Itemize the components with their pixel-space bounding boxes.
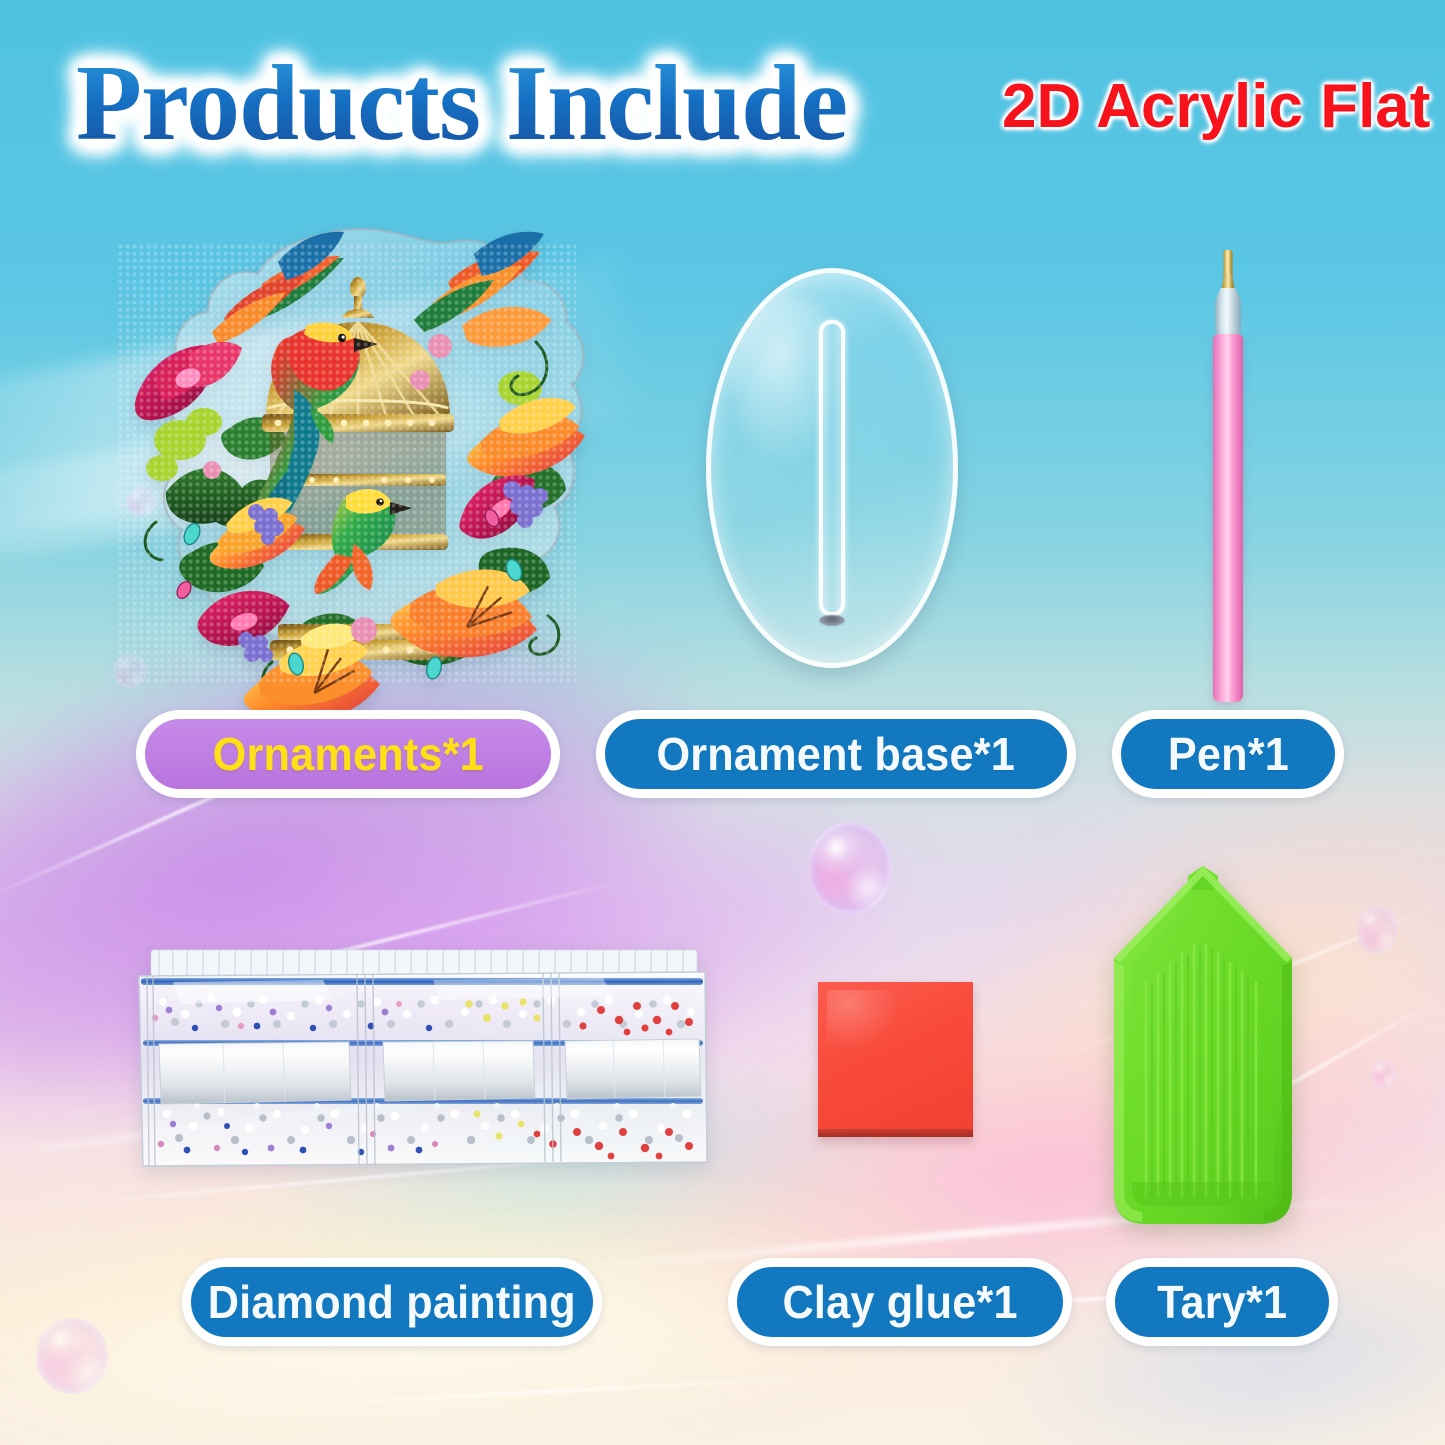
bubble-1: [808, 822, 892, 914]
label-diamond-painting[interactable]: Diamond painting: [182, 1258, 602, 1346]
label-pen[interactable]: Pen*1: [1112, 710, 1344, 798]
clay-glue-image: [818, 982, 973, 1137]
label-ornaments-text: Ornaments*1: [212, 727, 483, 781]
page-subtitle: 2D Acrylic Flat: [1002, 72, 1430, 142]
pen-image: [1207, 250, 1249, 705]
diamond-bags-image: [133, 948, 711, 1188]
pen-tip-cone: [1222, 274, 1235, 290]
label-ornament-base-text: Ornament base*1: [657, 727, 1016, 781]
glue-sheen: [827, 990, 898, 1049]
label-tary-text: Tary*1: [1157, 1275, 1287, 1329]
label-tary[interactable]: Tary*1: [1106, 1258, 1338, 1346]
base-slot: [819, 320, 845, 616]
acrylic-oval: [706, 268, 958, 668]
label-ornament-base[interactable]: Ornament base*1: [596, 710, 1076, 798]
ornament-image: [96, 222, 596, 712]
pen-body: [1213, 334, 1243, 702]
pen-metal-tip: [1224, 250, 1233, 276]
bubble-3: [1370, 1060, 1396, 1088]
title-row: Products Include 2D Acrylic Flat: [0, 48, 1445, 168]
bubble-4: [36, 1318, 108, 1394]
glue-bottom-edge: [818, 1129, 973, 1137]
label-pen-text: Pen*1: [1167, 727, 1288, 781]
page-title: Products Include: [76, 48, 847, 160]
label-diamond-painting-text: Diamond painting: [208, 1275, 576, 1329]
tray-image: [1108, 862, 1298, 1230]
label-ornaments[interactable]: Ornaments*1: [136, 710, 560, 798]
label-clay-glue-text: Clay glue*1: [782, 1275, 1017, 1329]
bubble-2: [1356, 906, 1398, 954]
pen-collar: [1215, 288, 1241, 336]
label-clay-glue[interactable]: Clay glue*1: [728, 1258, 1072, 1346]
base-slot-dot: [819, 615, 845, 626]
ornament-base-image: [706, 268, 958, 668]
